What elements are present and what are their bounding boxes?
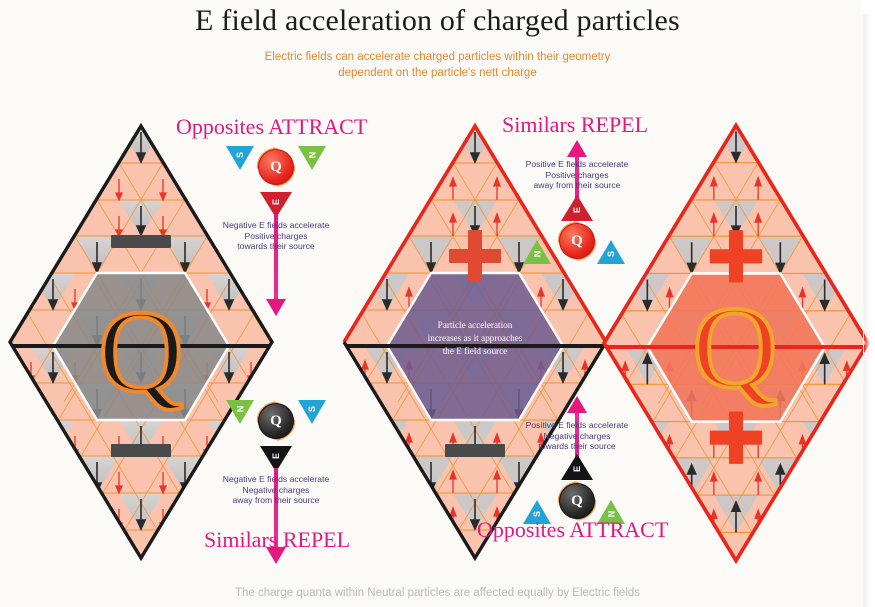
page-corner-fold xyxy=(861,0,875,14)
heading-opposites-attract-top-left: Opposites ATTRACT xyxy=(176,114,367,140)
particle-charge-label: Q xyxy=(258,403,294,439)
callout-line-1: Positive E fields accelerate xyxy=(487,420,667,431)
e-field-marker-positive: E xyxy=(561,454,593,480)
pole-tag-n-right: N xyxy=(298,146,326,170)
callout-line-3: away from their source xyxy=(487,180,667,191)
heading-similars-repel-top-right: Similars REPEL xyxy=(502,112,648,138)
callout-line-2: Negative charges xyxy=(487,431,667,442)
e-field-label: E xyxy=(271,453,281,459)
particle-charge-label: Q xyxy=(258,149,294,185)
subtitle-line-2: dependent on the particle's nett charge xyxy=(0,65,875,81)
particle-charge-label: Q xyxy=(559,483,595,519)
particle-positive-top-left: Q xyxy=(253,144,299,190)
e-field-label: E xyxy=(271,199,281,205)
sign-minus-top-left xyxy=(111,235,171,248)
pole-tag-label: S xyxy=(307,406,317,412)
pole-tag-n-left: N xyxy=(226,400,254,424)
sign-minus-bottom-left xyxy=(111,444,171,457)
page-title: E field acceleration of charged particle… xyxy=(0,4,875,38)
callout-line-1: Positive E fields accelerate xyxy=(487,159,667,170)
page-edge-fold xyxy=(863,0,875,607)
hex-label-line-3: the E field source xyxy=(400,345,550,358)
heading-similars-repel-bottom-left: Similars REPEL xyxy=(204,527,350,553)
page-subtitle: Electric fields can accelerate charged p… xyxy=(0,49,875,81)
pole-tag-n-left: N xyxy=(523,240,551,264)
pole-tag-s-left: S xyxy=(226,146,254,170)
pole-tag-label: S xyxy=(235,152,245,158)
callout-text-top-left: Negative E fields accelerate Positive ch… xyxy=(186,220,366,252)
e-field-label: E xyxy=(572,207,582,213)
diagram-canvas: E field acceleration of charged particle… xyxy=(0,0,875,607)
pole-tag-label: N xyxy=(532,251,542,258)
diamond-right-charge-label: Q xyxy=(678,296,792,406)
pole-tag-label: S xyxy=(606,251,616,257)
callout-line-1: Negative E fields accelerate xyxy=(186,220,366,231)
callout-text-bottom-right: Positive E fields accelerate Negative ch… xyxy=(487,420,667,452)
hex-label-line-1: Particle acceleration xyxy=(400,319,550,332)
hex-label-line-2: increases as it approaches xyxy=(400,332,550,345)
callout-line-3: towards their source xyxy=(487,441,667,452)
pole-tag-s-right: S xyxy=(298,400,326,424)
particle-charge-label: Q xyxy=(559,223,595,259)
callout-line-2: Positive charges xyxy=(186,231,366,242)
particle-positive-top-right: Q xyxy=(554,218,600,264)
pole-tag-s-right: S xyxy=(597,240,625,264)
pole-tag-label: N xyxy=(307,152,317,159)
hex-core-middle-label: Particle acceleration increases as it ap… xyxy=(400,319,550,358)
subtitle-line-1: Electric fields can accelerate charged p… xyxy=(0,49,875,65)
e-field-label: E xyxy=(572,466,582,472)
callout-line-1: Negative E fields accelerate xyxy=(186,474,366,485)
callout-text-bottom-left: Negative E fields accelerate Negative ch… xyxy=(186,474,366,506)
callout-text-top-right: Positive E fields accelerate Positive ch… xyxy=(487,159,667,191)
callout-line-2: Positive charges xyxy=(487,170,667,181)
callout-line-3: towards their source xyxy=(186,241,366,252)
particle-negative-bottom-left: Q xyxy=(253,398,299,444)
pole-tag-label: N xyxy=(235,406,245,413)
diamond-left-charge-label: Q xyxy=(84,300,198,410)
callout-line-2: Negative charges xyxy=(186,485,366,496)
heading-opposites-attract-bottom-right: Opposites ATTRACT xyxy=(477,517,668,543)
footer-note: The charge quanta within Neutral particl… xyxy=(0,587,875,599)
callout-line-3: away from their source xyxy=(186,495,366,506)
